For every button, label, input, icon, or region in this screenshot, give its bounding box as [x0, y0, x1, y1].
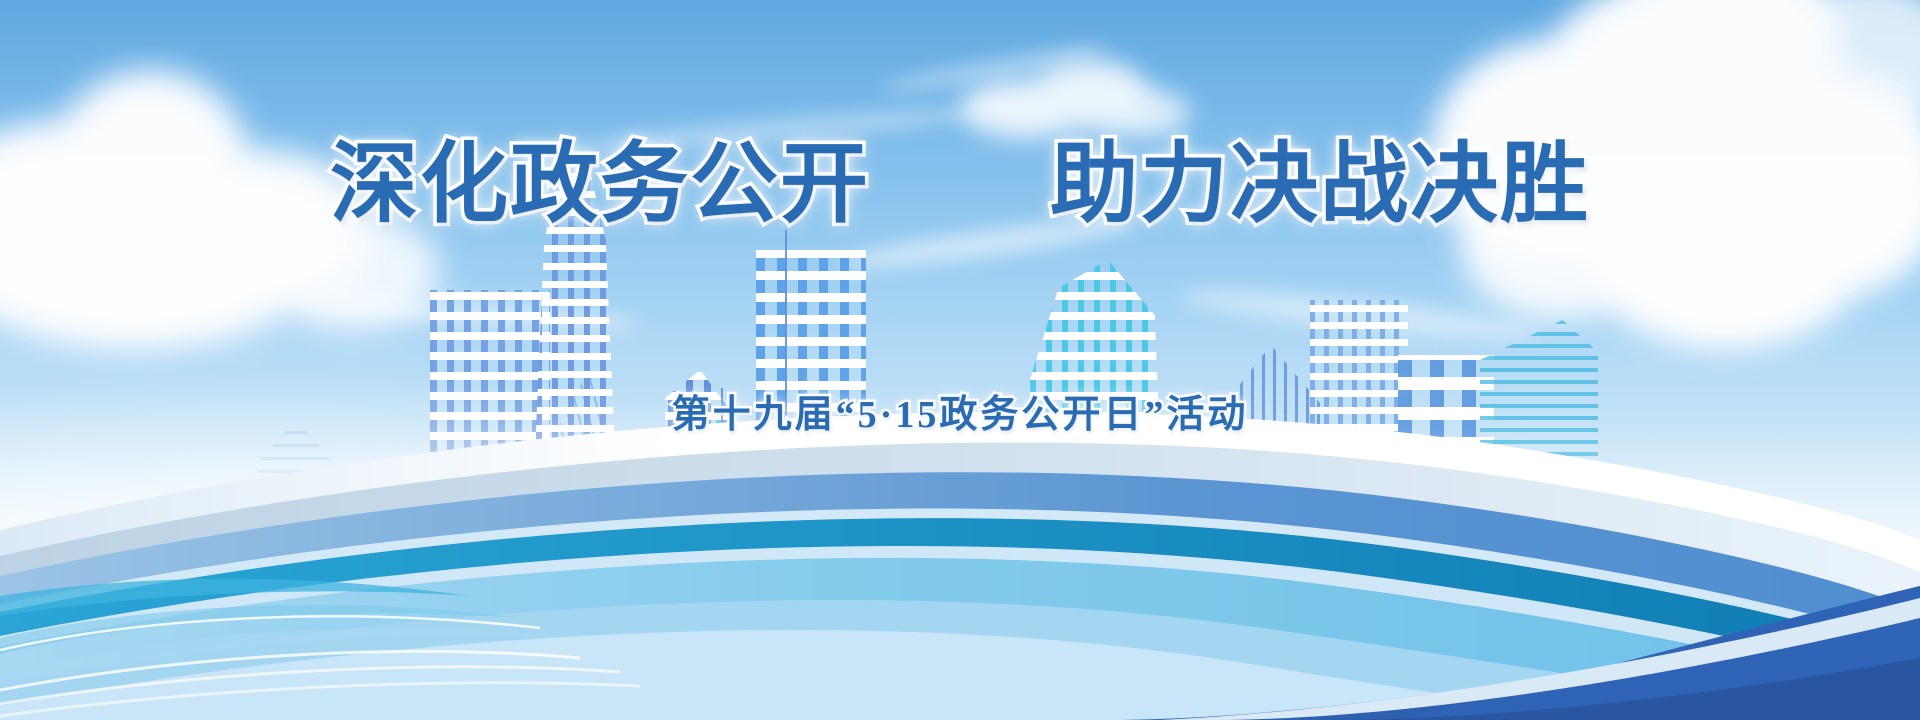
cloud-wisp-5: [880, 40, 1110, 98]
page-subtitle: 第十九届“5·15政务公开日”活动: [0, 383, 1920, 438]
flowing-wave-ribbon: [0, 390, 1920, 720]
page-title: 深化政务公开 助力决战决胜: [330, 140, 1590, 232]
banner-root: 深化政务公开 助力决战决胜 第十九届“5·15政务公开日”活动: [0, 0, 1920, 720]
title-container: 深化政务公开 助力决战决胜: [0, 140, 1920, 232]
